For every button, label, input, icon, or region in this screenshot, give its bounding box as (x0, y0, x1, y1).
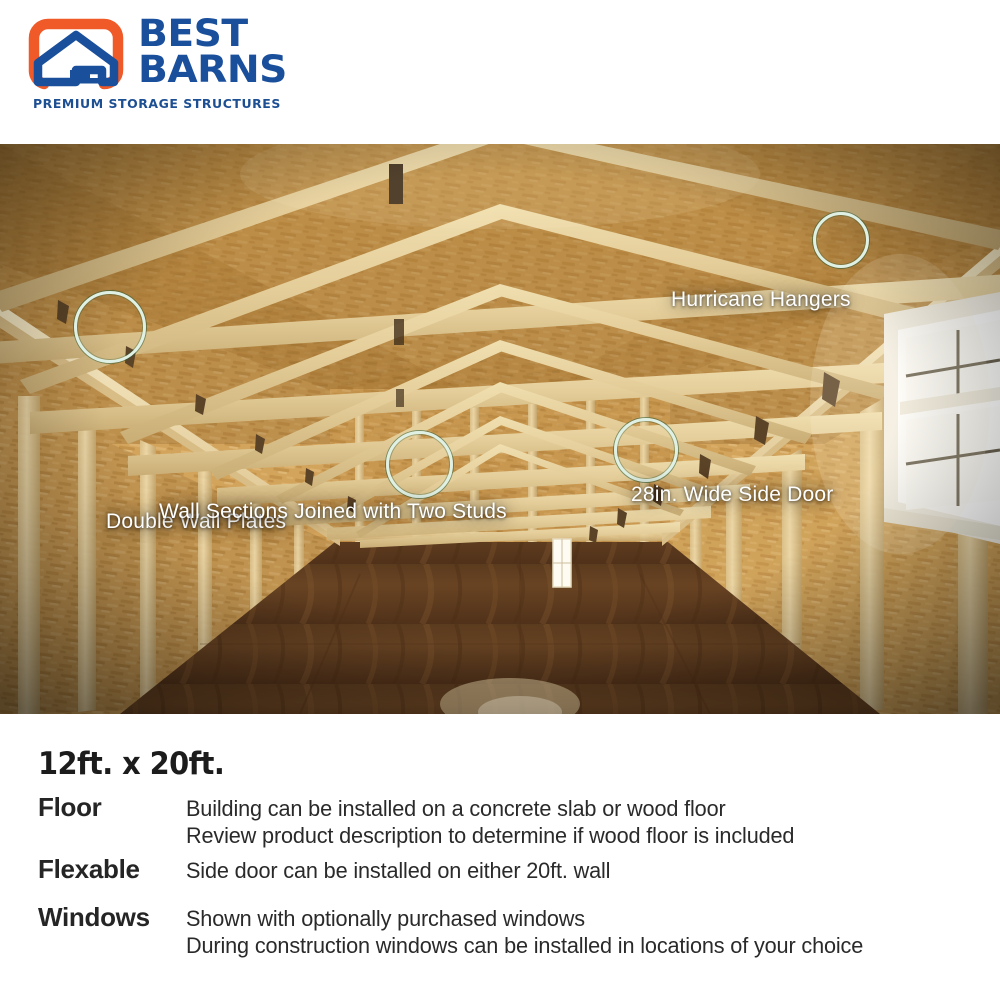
callout-label-side-door: 28in. Wide Side Door (631, 483, 833, 507)
spec-lines-windows: Shown with optionally purchased windows … (186, 905, 986, 959)
spec-lines-floor: Building can be installed on a concrete … (186, 795, 986, 849)
barn-interior-illustration (0, 144, 1000, 714)
spec-line: Side door can be installed on either 20f… (186, 857, 974, 884)
spec-label-floor: Floor (38, 792, 102, 823)
spec-label-flexable: Flexable (38, 854, 140, 885)
callout-label-hurricane-hangers: Hurricane Hangers (671, 288, 851, 312)
size-title: 12ft. x 20ft. (38, 746, 224, 782)
spec-line: Shown with optionally purchased windows (186, 905, 974, 932)
callout-label-wall-sections: Wall Sections Joined with Two Studs (159, 500, 507, 524)
brand-tagline: PREMIUM STORAGE STRUCTURES (33, 96, 281, 111)
product-info-page: BEST BARNS PREMIUM STORAGE STRUCTURES (0, 0, 1000, 1000)
spec-line: Review product description to determine … (186, 822, 974, 849)
spec-label-windows: Windows (38, 902, 150, 933)
barn-house-icon (28, 18, 124, 90)
spec-lines-flexable: Side door can be installed on either 20f… (186, 857, 986, 884)
brand-logo[interactable]: BEST BARNS PREMIUM STORAGE STRUCTURES (28, 18, 308, 114)
brand-name-line1: BEST (138, 16, 329, 52)
spec-line: Building can be installed on a concrete … (186, 795, 974, 822)
brand-wordmark: BEST BARNS (138, 16, 318, 89)
spec-line: During construction windows can be insta… (186, 932, 974, 959)
specifications-section: 12ft. x 20ft. Floor Building can be inst… (0, 714, 1000, 1000)
brand-name-line2: BARNS (138, 52, 329, 88)
header: BEST BARNS PREMIUM STORAGE STRUCTURES (0, 0, 1000, 144)
barn-interior-photo: Double Wall Plates Hurricane Hangers Wal… (0, 144, 1000, 714)
